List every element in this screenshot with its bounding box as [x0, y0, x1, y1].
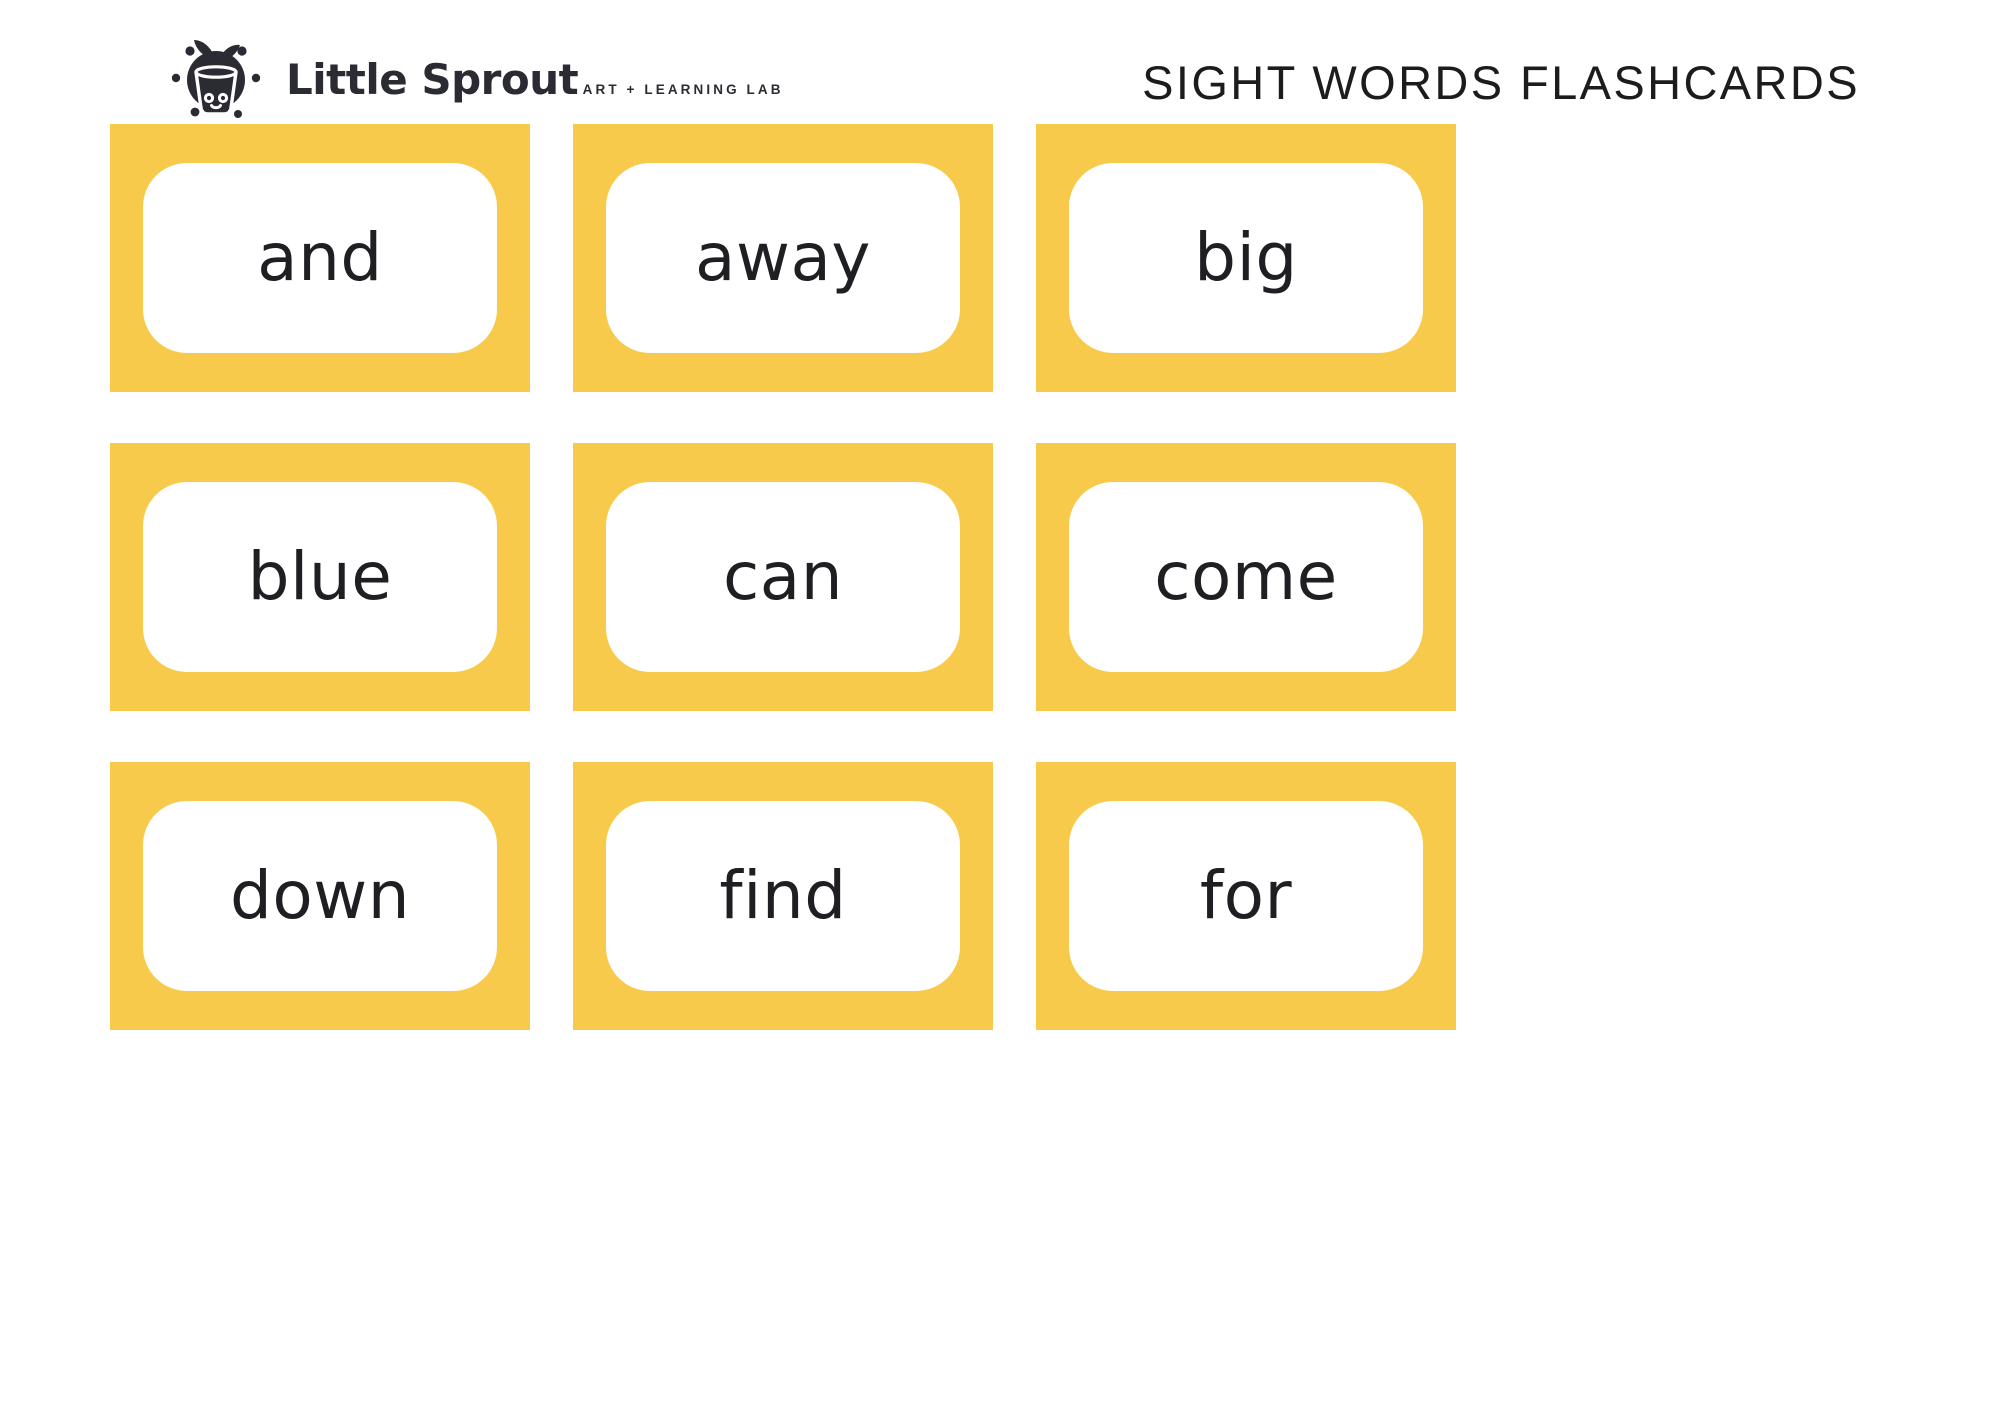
brand-text-block: Little Sprout ART + LEARNING LAB	[286, 55, 784, 101]
flashcard[interactable]: can	[573, 443, 993, 711]
flashcard-face: can	[606, 482, 960, 672]
flashcard[interactable]: and	[110, 124, 530, 392]
flashcard-word: big	[1194, 225, 1298, 291]
flashcard-face: for	[1069, 801, 1423, 991]
flashcard-face: away	[606, 163, 960, 353]
flashcard-word: for	[1200, 863, 1292, 929]
flashcard-word: come	[1154, 544, 1338, 610]
page-header: Little Sprout ART + LEARNING LAB SIGHT W…	[0, 0, 2000, 124]
flashcard[interactable]: come	[1036, 443, 1456, 711]
page-title: SIGHT WORDS FLASHCARDS	[1142, 55, 1860, 110]
brand-name: Little Sprout	[286, 55, 578, 104]
flashcard-word: blue	[248, 544, 393, 610]
flashcard[interactable]: away	[573, 124, 993, 392]
flashcard-word: find	[719, 863, 846, 929]
brand-lockup: Little Sprout ART + LEARNING LAB	[168, 30, 784, 126]
flashcard-word: down	[230, 863, 410, 929]
flashcard[interactable]: for	[1036, 762, 1456, 1030]
brand-tagline: ART + LEARNING LAB	[583, 82, 784, 97]
flashcard[interactable]: down	[110, 762, 530, 1030]
flashcard[interactable]: blue	[110, 443, 530, 711]
sprout-in-pot-logo-icon	[168, 30, 264, 126]
flashcard[interactable]: big	[1036, 124, 1456, 392]
flashcard-face: and	[143, 163, 497, 353]
flashcard-word: away	[695, 225, 871, 291]
flashcard-face: big	[1069, 163, 1423, 353]
flashcard-face: find	[606, 801, 960, 991]
flashcard-word: can	[723, 544, 843, 610]
flashcard[interactable]: find	[573, 762, 993, 1030]
flashcard-word: and	[257, 225, 383, 291]
flashcard-face: down	[143, 801, 497, 991]
flashcard-face: come	[1069, 482, 1423, 672]
flashcard-grid: and away big blue can come down find	[110, 124, 1455, 1030]
flashcard-face: blue	[143, 482, 497, 672]
